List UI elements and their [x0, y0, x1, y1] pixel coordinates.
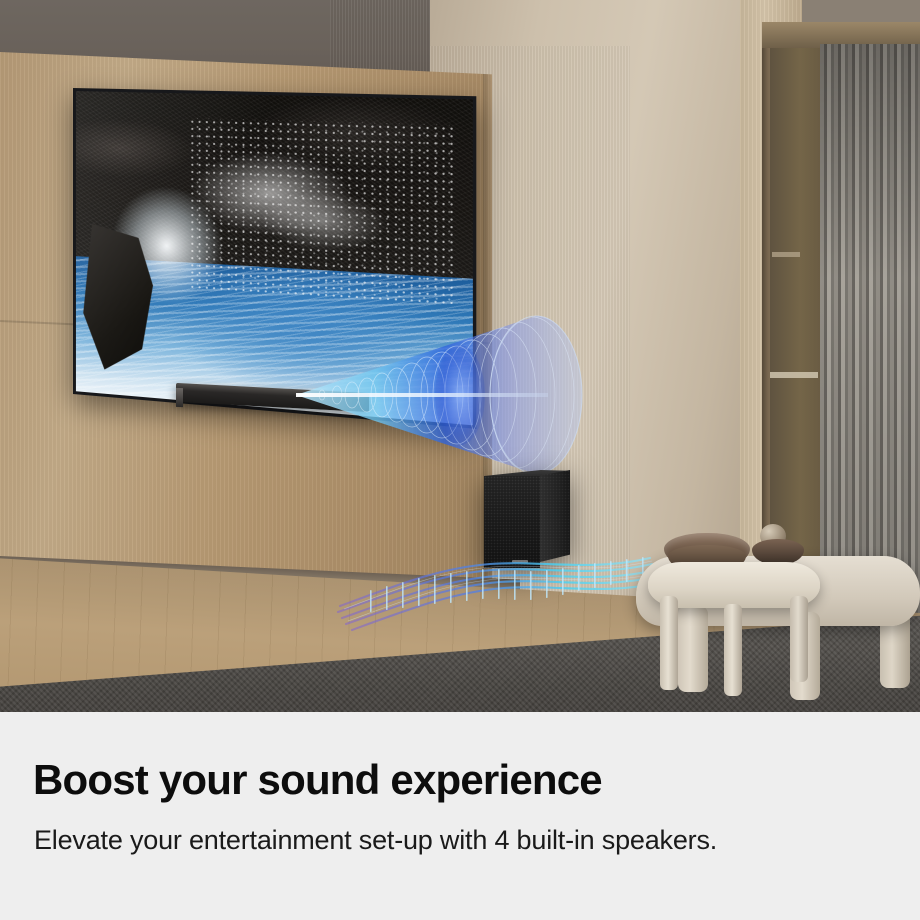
coffee-table-large-leg-left — [678, 606, 708, 692]
subwoofer — [484, 470, 570, 568]
coffee-table-small-leg-right — [790, 596, 808, 682]
soundbar-end-cap — [176, 388, 183, 407]
promo-banner: Boost your sound experience Elevate your… — [0, 0, 920, 920]
tv-scene-spray-droplets — [188, 118, 455, 307]
subwoofer-brand-logo — [512, 560, 528, 563]
tv-screen — [76, 91, 473, 425]
coffee-table-small-leg-left — [660, 596, 678, 690]
subwoofer-front-grille — [484, 476, 540, 568]
subwoofer-side-panel — [540, 470, 570, 562]
curtain-shading — [820, 44, 920, 629]
coffee-table-small-leg-center — [724, 604, 742, 696]
doorway-shelf-upper — [772, 252, 800, 257]
caption-panel: Boost your sound experience Elevate your… — [0, 712, 920, 920]
doorway-shelf-lower — [770, 372, 818, 378]
subheadline: Elevate your entertainment set-up with 4… — [34, 827, 717, 854]
television — [73, 88, 476, 429]
product-photo — [0, 0, 920, 712]
headline: Boost your sound experience — [33, 759, 602, 801]
